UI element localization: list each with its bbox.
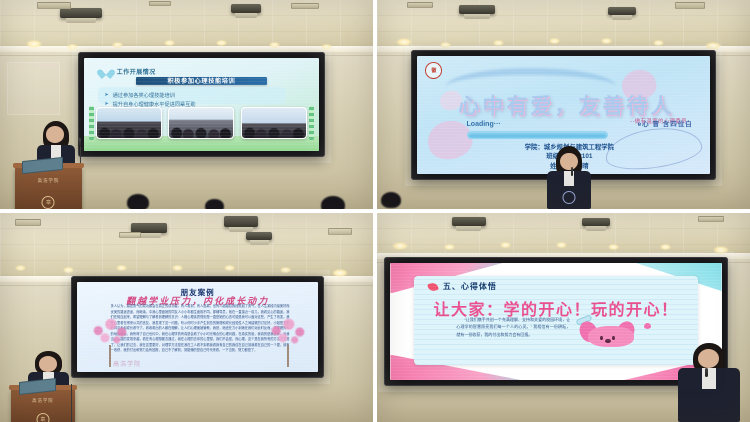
wall-panel	[7, 62, 59, 115]
slide-photo	[168, 107, 234, 138]
podium-seal-icon: 章	[36, 413, 49, 422]
head	[39, 356, 57, 371]
collar	[702, 368, 715, 389]
slide-heading: 工作开展情况	[117, 67, 156, 76]
projector-icon	[246, 232, 272, 240]
slide-photo	[96, 107, 162, 138]
slide-surface: 朋友案例 翻越学业压力，内化成长动力 多人认为，越是勇气的成功都会在真正的成功者…	[77, 282, 319, 372]
heart-icon	[101, 67, 112, 77]
projector-icon	[582, 218, 610, 226]
photo-collage: 工作开展情况 积极参加心理技能培训 ➤ 通过参加各类心理技能培训 ➤ 提升自身心…	[0, 0, 750, 422]
cherry-tree-icon	[267, 319, 309, 367]
ceiling-vent	[407, 2, 433, 8]
projector-icon	[131, 223, 167, 233]
audience-silhouettes	[97, 122, 161, 137]
audience-silhouettes	[169, 122, 233, 137]
panel-top-right: 徽 心中有爱，友善待人 --做有温度的心理委员 Loading··· 学院：城乡…	[377, 0, 750, 209]
dog-eye	[612, 336, 615, 340]
slide-body-text: 多人认为，越是勇气的成功都会在真正的成功者。有人看到，有人逃离，也有人超越自我挫…	[111, 304, 290, 354]
audience-head	[127, 194, 149, 209]
projector-icon	[60, 8, 102, 18]
school-badge-icon: 徽	[425, 62, 442, 79]
bullet-marker-icon: ➤	[104, 92, 108, 98]
audience-head	[381, 192, 401, 208]
decorative-swoosh	[446, 68, 616, 87]
head	[46, 126, 64, 142]
ceiling-grid	[0, 213, 373, 282]
projector-icon	[608, 7, 636, 15]
heart-outline-icon	[602, 122, 703, 173]
heart-decoration-icon	[644, 323, 651, 329]
spotlight-icon	[216, 40, 227, 46]
ceiling-vent	[119, 232, 141, 238]
dog-eye	[600, 336, 603, 340]
slide-title-text: 心中有爱，友善待人	[458, 90, 675, 120]
spotlight-icon	[26, 40, 42, 48]
microphone-icon	[78, 138, 81, 147]
spotlight-icon	[269, 42, 280, 48]
ceiling-vent	[15, 219, 41, 226]
panel-top-left: 工作开展情况 积极参加心理技能培训 ➤ 通过参加各类心理技能培训 ➤ 提升自身心…	[0, 0, 373, 209]
projector-icon	[231, 4, 261, 13]
spotlight-icon	[440, 42, 451, 48]
slide-content-card: 五、心得体悟 让大家：学的开心！玩的开心！ “让我们携手共创一个充满理解、支持和…	[414, 276, 699, 365]
slide-surface: 五、心得体悟 让大家：学的开心！玩的开心！ “让我们携手共创一个充满理解、支持和…	[390, 263, 721, 381]
ceiling-vent	[675, 2, 705, 9]
ceiling-vent	[698, 216, 724, 222]
ceiling-vent	[328, 228, 352, 235]
spotlight-icon	[549, 38, 560, 44]
bullet-text: 通过参加各类心理技能培训	[113, 92, 175, 99]
head	[698, 349, 719, 368]
slide-photo	[241, 107, 307, 138]
panel-bottom-left: 朋友案例 翻越学业压力，内化成长动力 多人认为，越是勇气的成功都会在真正的成功者…	[0, 213, 373, 422]
slide-bullet-card: ➤ 通过参加各类心理技能培训 ➤ 提升自身心理健康水平促进同辈互助	[98, 87, 285, 104]
slide-photo-strip	[96, 107, 307, 138]
speaker	[541, 146, 597, 209]
led-screen: 工作开展情况 积极参加心理技能培训 ➤ 通过参加各类心理技能培训 ➤ 提升自身心…	[78, 52, 324, 157]
tree-trunk	[287, 345, 289, 367]
slide-right-accent	[309, 106, 314, 139]
name-badge-icon	[563, 191, 576, 204]
loading-label: Loading···	[467, 121, 501, 128]
ceiling-vent	[149, 1, 171, 6]
spotlight-icon	[493, 40, 504, 46]
projector-icon	[452, 217, 486, 226]
led-screen: 朋友案例 翻越学业压力，内化成长动力 多人认为，越是勇气的成功都会在真正的成功者…	[71, 276, 325, 378]
slide-surface: 工作开展情况 积极参加心理技能培训 ➤ 通过参加各类心理技能培训 ➤ 提升自身心…	[84, 58, 318, 151]
slide-watermark: 高浩学院	[113, 359, 141, 368]
head	[560, 153, 578, 171]
spotlight-icon	[172, 265, 183, 271]
spotlight-icon	[396, 38, 412, 46]
dog-nose	[605, 339, 611, 343]
podium: 高浩学院 章	[15, 167, 82, 209]
slide-banner-text: 积极参加心理技能培训	[167, 76, 235, 85]
speaker	[675, 343, 742, 422]
bullet-item: ➤ 通过参加各类心理技能培训	[104, 92, 279, 99]
slide-heading: 五、心得体悟	[443, 281, 497, 292]
mic-stand	[71, 384, 72, 422]
dog-illustration-icon	[579, 317, 653, 353]
projector-icon	[224, 216, 258, 227]
spotlight-icon	[112, 42, 123, 48]
spotlight-icon	[653, 40, 664, 46]
ceiling-vent	[37, 2, 71, 9]
slide-work-progress: 工作开展情况 积极参加心理技能培训 ➤ 通过参加各类心理技能培训 ➤ 提升自身心…	[84, 58, 318, 151]
podium-seal-icon: 章	[42, 196, 55, 209]
audience-head	[321, 196, 345, 209]
progress-bar	[467, 131, 608, 139]
slide-paragraph: “让我们携手共创一个充满理解、支持和关爱的校园环境，让心理学的智慧照亮我们每一个…	[456, 316, 570, 338]
dog-illustration-icon	[605, 129, 702, 168]
tree-trunk	[109, 345, 111, 367]
ceiling	[0, 213, 373, 282]
slide-banner: 积极参加心理技能培训	[136, 77, 267, 85]
podium-label: 高浩学院	[11, 398, 74, 404]
spotlight-icon	[164, 40, 175, 46]
ribbon-icon	[427, 282, 439, 292]
slide-case-study: 朋友案例 翻越学业压力，内化成长动力 多人认为，越是勇气的成功都会在真正的成功者…	[77, 282, 319, 372]
slide-heading-row: 工作开展情况	[101, 67, 156, 77]
projector-icon	[459, 5, 495, 14]
dog-face	[588, 326, 634, 347]
ceiling-vent	[291, 3, 319, 9]
audience-silhouettes	[242, 122, 306, 137]
panel-bottom-right: 五、心得体悟 让大家：学的开心！玩的开心！ “让我们携手共创一个充满理解、支持和…	[377, 213, 750, 422]
spotlight-icon	[601, 38, 612, 44]
decoration-text: e心 冒 含四位白	[638, 118, 693, 128]
audience-head	[205, 199, 224, 209]
slide-reflections: 五、心得体悟 让大家：学的开心！玩的开心！ “让我们携手共创一个充满理解、支持和…	[390, 263, 721, 381]
podium-label: 高浩学院	[15, 178, 82, 184]
slide-heading-row: 五、心得体悟	[428, 281, 497, 292]
slide-left-accent	[89, 106, 94, 139]
microphone-icon	[705, 368, 708, 377]
